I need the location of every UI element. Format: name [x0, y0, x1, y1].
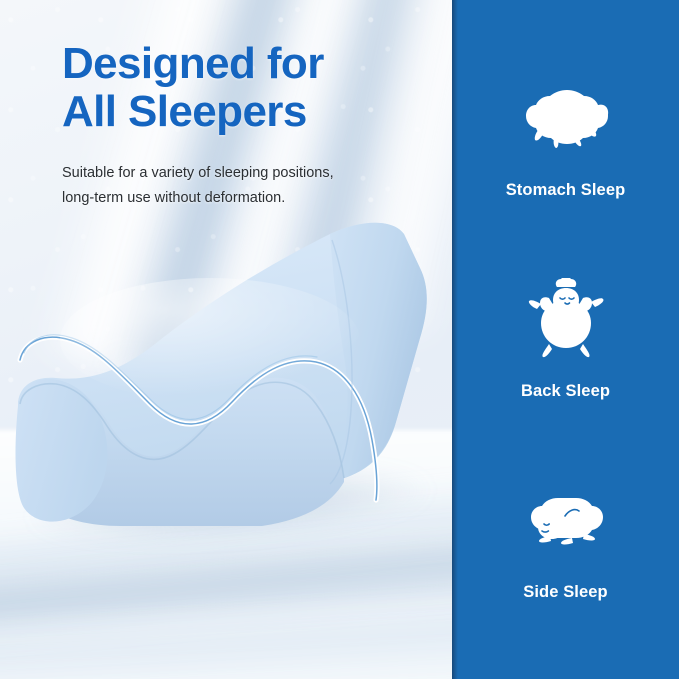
- sleep-position-label: Stomach Sleep: [506, 181, 626, 200]
- sheep-stomach-sleep-icon: [518, 77, 614, 165]
- product-photo-scene: Designed for All Sleepers Suitable for a…: [0, 0, 452, 679]
- sleep-position-label: Side Sleep: [523, 583, 607, 602]
- sleep-position-item: Side Sleep: [452, 479, 679, 602]
- sleep-position-item: Back Sleep: [452, 278, 679, 401]
- panel-edge-seam: [452, 0, 458, 679]
- sheep-side-sleep-icon: [518, 479, 614, 567]
- sleep-position-label: Back Sleep: [521, 382, 610, 401]
- sleep-positions-panel: Stomach Sleep: [452, 0, 679, 679]
- hero-subcopy: Suitable for a variety of sleeping posit…: [62, 161, 432, 211]
- sheep-back-sleep-icon: [518, 278, 614, 366]
- product-pillow: [0, 190, 452, 530]
- hero-copy: Designed for All Sleepers Suitable for a…: [62, 40, 432, 211]
- product-feature-image: Designed for All Sleepers Suitable for a…: [0, 0, 679, 679]
- page-title: Designed for All Sleepers: [62, 40, 432, 135]
- sleep-position-item: Stomach Sleep: [452, 77, 679, 200]
